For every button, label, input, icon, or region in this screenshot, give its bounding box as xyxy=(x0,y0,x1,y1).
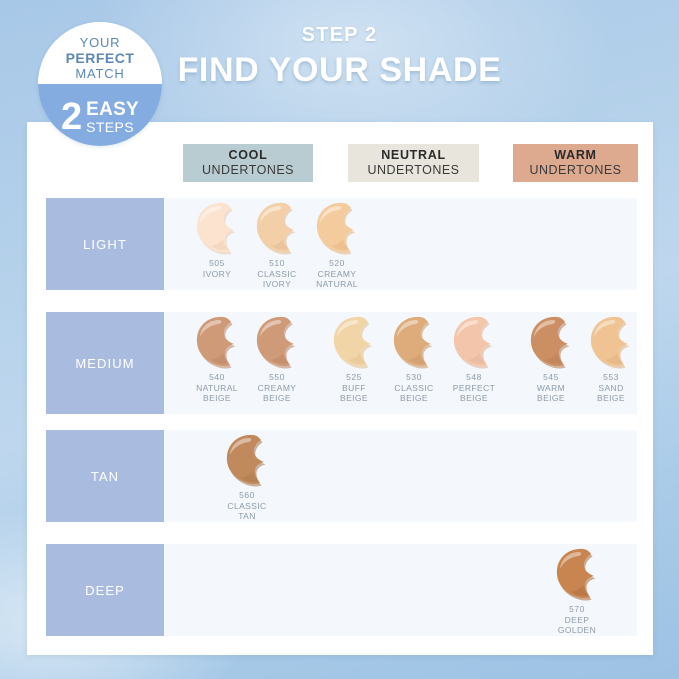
undertone-header-neutral[interactable]: NEUTRALUNDERTONES xyxy=(348,144,479,182)
shade-code: 553 xyxy=(577,372,645,383)
row-label-text: TAN xyxy=(91,469,119,484)
shade-swatch-510[interactable]: 510CLASSIC IVORY xyxy=(243,200,311,290)
shade-name: IVORY xyxy=(183,269,251,280)
shade-name: PERFECT BEIGE xyxy=(440,383,508,404)
shade-swatch-505[interactable]: 505IVORY xyxy=(183,200,251,279)
undertone-sublabel: UNDERTONES xyxy=(529,164,621,177)
shade-swatch-560[interactable]: 560CLASSIC TAN xyxy=(213,432,281,522)
foundation-blob-icon xyxy=(446,314,502,370)
shade-name: SAND BEIGE xyxy=(577,383,645,404)
row-label-medium[interactable]: MEDIUM xyxy=(46,312,164,414)
shade-name: CLASSIC BEIGE xyxy=(380,383,448,404)
undertone-name: COOL xyxy=(229,149,268,162)
badge-top-half: YOUR PERFECT MATCH xyxy=(38,22,162,84)
shade-swatch-530[interactable]: 530CLASSIC BEIGE xyxy=(380,314,448,404)
shade-swatch-548[interactable]: 548PERFECT BEIGE xyxy=(440,314,508,404)
shade-name: DEEP GOLDEN xyxy=(543,615,611,636)
shade-name: BUFF BEIGE xyxy=(320,383,388,404)
badge-steps-label: STEPS xyxy=(86,120,139,134)
shade-name: NATURAL BEIGE xyxy=(183,383,251,404)
undertone-header-cool[interactable]: COOLUNDERTONES xyxy=(183,144,313,182)
foundation-blob-icon xyxy=(249,314,305,370)
foundation-blob-icon xyxy=(249,200,305,256)
shade-name: CREAMY NATURAL xyxy=(303,269,371,290)
badge-line-match: MATCH xyxy=(75,67,124,81)
shade-swatch-550[interactable]: 550CREAMY BEIGE xyxy=(243,314,311,404)
badge-easy-label: EASY xyxy=(86,100,139,119)
shade-swatch-520[interactable]: 520CREAMY NATURAL xyxy=(303,200,371,290)
shade-code: 525 xyxy=(320,372,388,383)
shade-swatch-525[interactable]: 525BUFF BEIGE xyxy=(320,314,388,404)
foundation-blob-icon xyxy=(523,314,579,370)
shade-swatch-570[interactable]: 570DEEP GOLDEN xyxy=(543,546,611,636)
badge-steps-text: EASY STEPS xyxy=(86,100,139,134)
row-label-tan[interactable]: TAN xyxy=(46,430,164,522)
foundation-blob-icon xyxy=(583,314,639,370)
foundation-blob-icon xyxy=(219,432,275,488)
badge-line-your: YOUR xyxy=(80,36,121,50)
row-label-deep[interactable]: DEEP xyxy=(46,544,164,636)
shade-code: 550 xyxy=(243,372,311,383)
row-label-text: DEEP xyxy=(85,583,125,598)
foundation-blob-icon xyxy=(386,314,442,370)
shade-swatch-540[interactable]: 540NATURAL BEIGE xyxy=(183,314,251,404)
shade-code: 560 xyxy=(213,490,281,501)
badge-step-number: 2 xyxy=(61,100,81,134)
perfect-match-badge: YOUR PERFECT MATCH 2 EASY STEPS xyxy=(38,22,162,146)
row-label-text: MEDIUM xyxy=(75,356,134,371)
foundation-blob-icon xyxy=(549,546,605,602)
row-label-text: LIGHT xyxy=(83,237,127,252)
shade-swatch-553[interactable]: 553SAND BEIGE xyxy=(577,314,645,404)
badge-line-perfect: PERFECT xyxy=(66,51,135,66)
shade-code: 570 xyxy=(543,604,611,615)
undertone-name: NEUTRAL xyxy=(381,149,446,162)
shade-finder-infographic: STEP 2 FIND YOUR SHADE YOUR PERFECT MATC… xyxy=(0,0,679,679)
shade-swatch-545[interactable]: 545WARM BEIGE xyxy=(517,314,585,404)
foundation-blob-icon xyxy=(326,314,382,370)
shade-name: CLASSIC IVORY xyxy=(243,269,311,290)
shade-code: 520 xyxy=(303,258,371,269)
shade-code: 540 xyxy=(183,372,251,383)
foundation-blob-icon xyxy=(309,200,365,256)
row-label-light[interactable]: LIGHT xyxy=(46,198,164,290)
badge-bottom-half: 2 EASY STEPS xyxy=(38,84,162,146)
shade-code: 510 xyxy=(243,258,311,269)
shade-name: WARM BEIGE xyxy=(517,383,585,404)
undertone-name: WARM xyxy=(554,149,596,162)
shade-code: 530 xyxy=(380,372,448,383)
foundation-blob-icon xyxy=(189,200,245,256)
undertone-header-warm[interactable]: WARMUNDERTONES xyxy=(513,144,638,182)
foundation-blob-icon xyxy=(189,314,245,370)
undertone-sublabel: UNDERTONES xyxy=(367,164,459,177)
shade-code: 505 xyxy=(183,258,251,269)
shade-name: CREAMY BEIGE xyxy=(243,383,311,404)
shade-code: 545 xyxy=(517,372,585,383)
shade-code: 548 xyxy=(440,372,508,383)
shade-name: CLASSIC TAN xyxy=(213,501,281,522)
undertone-sublabel: UNDERTONES xyxy=(202,164,294,177)
